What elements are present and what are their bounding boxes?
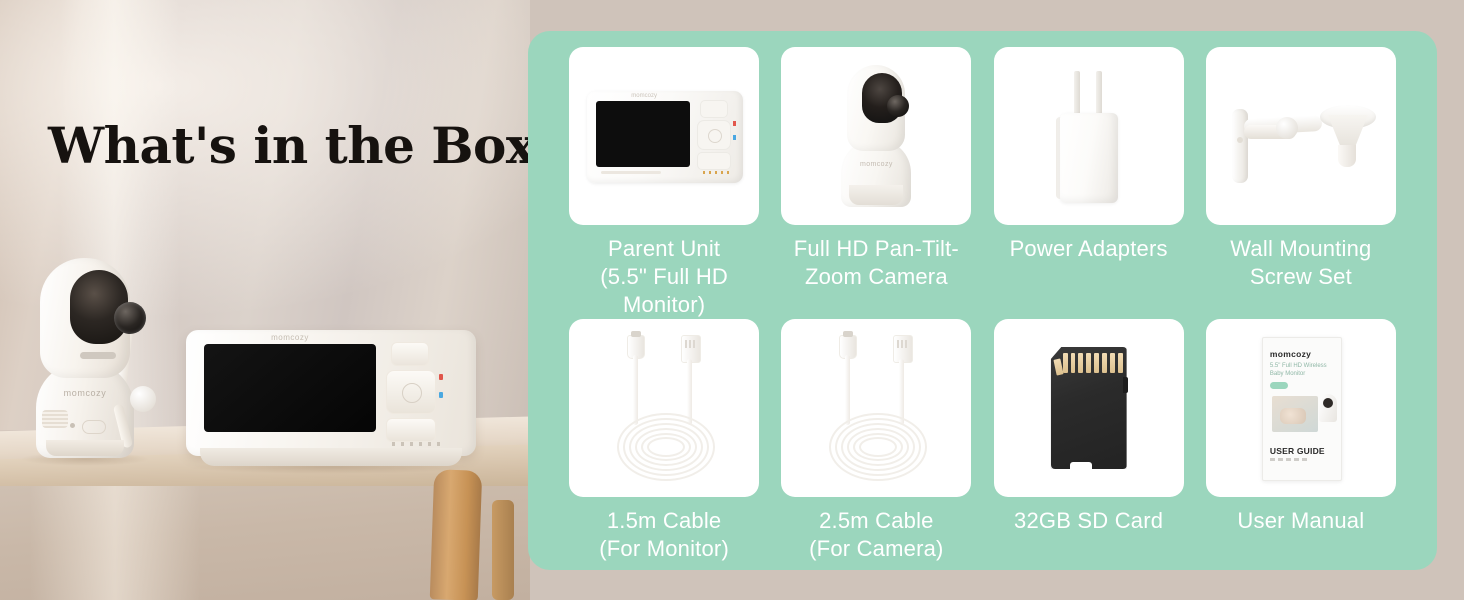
wall-mount-cone-body [1328,115,1368,149]
usb-a-connector-icon [893,335,913,363]
parent-unit-dpad-icon [697,120,731,150]
manual-badge [1270,382,1288,389]
camera-slot [80,352,116,359]
wall-mount-stem [1338,145,1356,167]
camera-button-icon [82,420,106,434]
user-manual-icon: momcozy 5.5" Full HD Wireless Baby Monit… [1262,337,1342,481]
grid-item-power-adapters[interactable]: Power Adapters [983,47,1195,319]
manual-cover-camera-icon [1319,394,1337,422]
photo-parent-monitor: momcozy [186,330,476,470]
manual-brand: momcozy [1270,349,1311,359]
caption-line-2: (For Monitor) [559,535,769,563]
camera-led-icon [70,423,75,428]
monitor-screen [204,344,376,432]
monitor-red-indicator-icon [439,374,443,380]
camera-speaker-grill-icon [42,410,68,428]
product-caption: Power Adapters [984,235,1194,263]
caption-line-1: Full HD Pan-Tilt- [771,235,981,263]
sd-card-lock-tab-icon [1123,377,1128,393]
camera-head [40,258,130,378]
product-caption: User Manual [1196,507,1406,535]
caption-line-2: (For Camera) [771,535,981,563]
caption-line-1: 1.5m Cable [559,507,769,535]
photo-chair-back [430,469,483,600]
product-card[interactable]: momcozy [781,47,971,225]
adapter-prong-right-icon [1096,71,1102,115]
sd-card-bottom-cut [1070,462,1092,469]
cable-coil [617,413,711,477]
product-card[interactable] [569,319,759,497]
ptz-camera-icon: momcozy [841,65,911,207]
page-title: What's in the Box▶ [48,116,570,175]
caption-line-2: Screw Set [1196,263,1406,291]
adapter-prong-left-icon [1074,71,1080,115]
parent-unit-power-button-icon [700,100,728,118]
camera-lens-icon [114,302,146,334]
parent-unit-screen [596,101,690,167]
caption-line-1: 2.5m Cable [771,507,981,535]
monitor-brand-logo: momcozy [248,333,332,342]
camera-brand-logo: momcozy [44,388,126,398]
grid-item-user-manual[interactable]: momcozy 5.5" Full HD Wireless Baby Monit… [1195,319,1407,563]
product-caption: 32GB SD Card [984,507,1194,535]
caption-line-1: 32GB SD Card [984,507,1194,535]
grid-item-cable-camera[interactable]: 2.5m Cable (For Camera) [770,319,982,563]
product-card[interactable]: momcozy 5.5" Full HD Wireless Baby Monit… [1206,319,1396,497]
monitor-blue-indicator-icon [439,392,443,398]
parent-unit-red-indicator-icon [733,121,736,126]
wall-mount-bracket-icon [1224,95,1380,187]
parent-unit-blue-indicator-icon [733,135,736,140]
product-card[interactable] [1206,47,1396,225]
photo-chair-leg [492,500,514,600]
parent-unit-led-bar-icon [703,171,733,174]
product-caption: Wall Mounting Screw Set [1196,235,1406,291]
ptz-camera-lens-icon [887,95,909,117]
manual-fine-print [1270,458,1310,461]
product-card[interactable] [994,319,1184,497]
product-caption: 2.5m Cable (For Camera) [771,507,981,563]
product-card[interactable]: momcozy [569,47,759,225]
parent-unit-logo: momcozy [617,93,671,99]
product-card[interactable] [781,319,971,497]
power-adapter-icon [1056,69,1122,205]
monitor-led-bar-icon [392,442,442,446]
monitor-power-button-icon [391,342,429,366]
caption-line-1: Wall Mounting [1196,235,1406,263]
caption-line-2: Zoom Camera [771,263,981,291]
monitor-dpad-icon [386,370,436,414]
monitor-body: momcozy [186,330,476,456]
adapter-body [1060,113,1118,203]
monitor-function-buttons-icon [386,418,436,442]
grid-item-wall-mount[interactable]: Wall Mounting Screw Set [1195,47,1407,319]
page-title-text: What's in the Box [48,116,535,175]
ptz-camera-head [847,65,905,151]
grid-item-parent-unit[interactable]: momcozy Parent Unit (5.5" Full HD Monito… [558,47,770,319]
parent-unit-footer-text [601,171,661,174]
caption-line-1: Power Adapters [984,235,1194,263]
parent-unit-monitor-icon: momcozy [587,91,743,183]
caption-line-1: User Manual [1196,507,1406,535]
camera-mic-icon [130,386,156,412]
monitor-stand [200,448,462,466]
product-caption: Full HD Pan-Tilt- Zoom Camera [771,235,981,291]
camera-lens-ring [70,270,128,344]
wall-mount-joint [1276,117,1298,139]
whats-in-the-box-banner: momcozy momcozy What's in the Box▶ [0,0,1464,600]
caption-line-1: Parent Unit [559,235,769,263]
usb-cable-icon [609,335,719,481]
grid-item-sd-card[interactable]: 32GB SD Card [983,319,1195,563]
ptz-camera-lens-ring [862,73,902,123]
product-card[interactable] [994,47,1184,225]
product-caption: 1.5m Cable (For Monitor) [559,507,769,563]
caption-line-2: (5.5" Full HD Monitor) [559,263,769,319]
contents-grid: momcozy Parent Unit (5.5" Full HD Monito… [558,47,1407,557]
manual-subtitle: 5.5" Full HD Wireless Baby Monitor [1270,362,1334,378]
grid-item-cable-monitor[interactable]: 1.5m Cable (For Monitor) [558,319,770,563]
product-lifestyle-photo: momcozy momcozy [0,0,530,600]
product-caption: Parent Unit (5.5" Full HD Monitor) [559,235,769,319]
parent-unit-function-buttons-icon [697,152,731,170]
sd-card-contacts-icon [1063,353,1123,373]
photo-baby-camera: momcozy [26,258,144,458]
manual-cover-photo [1272,396,1318,432]
ptz-camera-ring [849,185,903,205]
grid-item-ptz-camera[interactable]: momcozy Full HD Pan-Tilt- Zoom Camera [770,47,982,319]
manual-guide-title: USER GUIDE [1270,446,1325,456]
cable-coil [829,413,923,477]
contents-panel: momcozy Parent Unit (5.5" Full HD Monito… [528,31,1437,570]
usb-cable-icon [821,335,931,481]
ptz-camera-logo: momcozy [841,161,911,168]
camera-foot [46,440,124,456]
